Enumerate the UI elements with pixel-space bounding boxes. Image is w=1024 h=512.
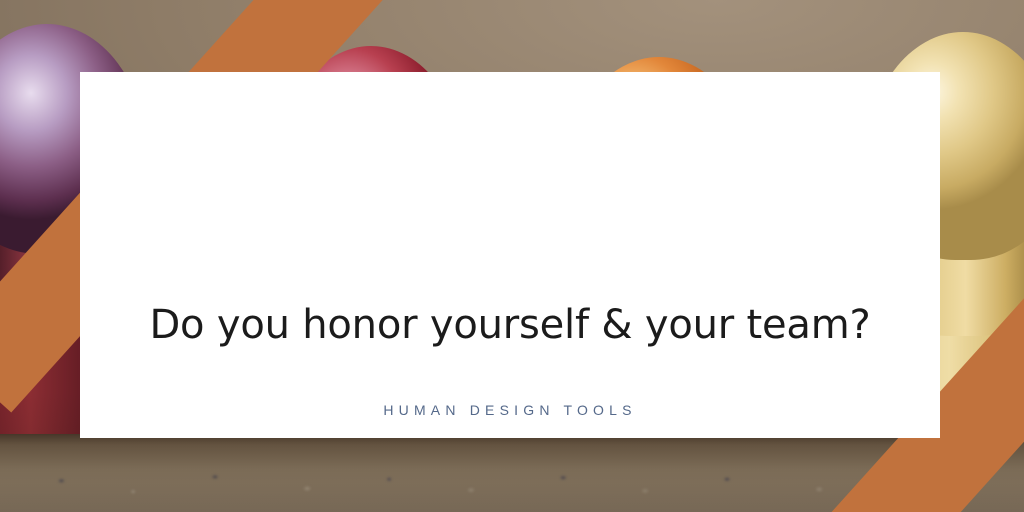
content-card: Do you honor yourself & your team? HUMAN… [80, 72, 940, 438]
social-graphic-canvas: Do you honor yourself & your team? HUMAN… [0, 0, 1024, 512]
brand-wordmark: HUMAN DESIGN TOOLS [80, 402, 940, 418]
headline-text: Do you honor yourself & your team? [80, 300, 940, 350]
